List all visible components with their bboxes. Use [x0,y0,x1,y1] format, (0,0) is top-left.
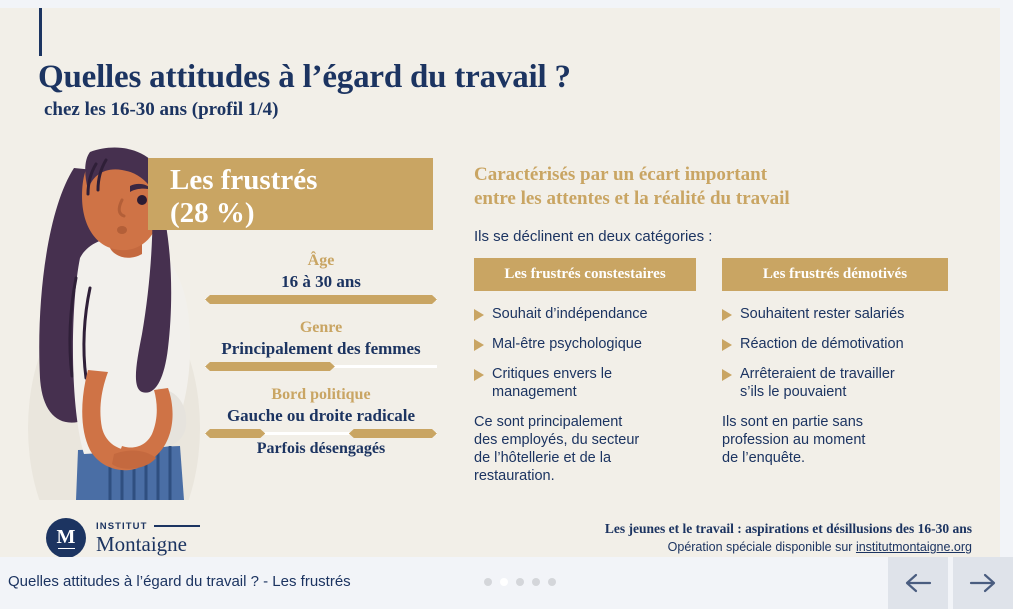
attribute-bar [205,362,437,371]
attribute-label: Âge [205,251,437,271]
attribute-bar [205,429,437,438]
title-block: Quelles attitudes à l’égard du travail ?… [38,58,938,122]
list-item-label: Critiques envers le management [492,365,612,401]
slide-caption: Quelles attitudes à l’égard du travail ?… [8,573,351,590]
triangle-bullet-icon [474,369,484,381]
list-item: Critiques envers le management [474,365,700,401]
slide-viewer: Quelles attitudes à l’égard du travail ?… [0,0,1013,609]
triangle-bullet-icon [722,309,732,321]
category-header: Les frustrés constestaires [474,258,696,291]
report-title: Les jeunes et le travail : aspirations e… [605,520,972,537]
category-contestataires: Les frustrés constestaires Souhait d’ind… [474,258,700,485]
institut-montaigne-logo: M INSTITUT Montaigne [46,518,200,557]
logo-montaigne-label: Montaigne [96,533,200,556]
list-item: Souhaitent rester salariés [722,305,948,323]
page-title: Quelles attitudes à l’égard du travail ? [38,58,938,96]
persona-name: Les frustrés [170,164,433,197]
logo-mark-icon: M [46,518,86,557]
triangle-bullet-icon [722,339,732,351]
next-slide-button[interactable] [953,557,1013,609]
arrow-right-icon [968,572,998,594]
attribute-value: Principalement des femmes [205,338,437,360]
logo-dash [154,525,200,527]
logo-letter: M [57,527,76,547]
pagination-dot[interactable] [484,578,492,586]
category-note: Ce sont principalement des employés, du … [474,413,700,485]
pagination-dot[interactable] [532,578,540,586]
list-item-label: Arrêteraient de travailler s’ils le pouv… [740,365,895,401]
list-item-label: Souhait d’indépendance [492,305,648,323]
bar-segment [205,429,265,438]
triangle-bullet-icon [722,369,732,381]
triangle-bullet-icon [474,309,484,321]
list-item: Arrêteraient de travailler s’ils le pouv… [722,365,948,401]
persona-share: (28 %) [170,197,433,230]
insights-intro: Ils se déclinent en deux catégories : [474,227,974,247]
logo-underline [58,548,75,550]
attribute-age: Âge 16 à 30 ans [205,251,437,304]
attribute-value-secondary: Parfois désengagés [205,438,437,460]
pagination-dot[interactable] [548,578,556,586]
slide-canvas: Quelles attitudes à l’égard du travail ?… [0,8,1000,557]
category-header: Les frustrés démotivés [722,258,948,291]
slide-footer: Les jeunes et le travail : aspirations e… [605,520,972,556]
persona-attributes: Âge 16 à 30 ans Genre Principalement des… [205,251,437,460]
bar-segment [349,429,437,438]
category-columns: Les frustrés constestaires Souhait d’ind… [474,258,974,485]
list-item-label: Souhaitent rester salariés [740,305,904,323]
attribute-bord-politique: Bord politique Gauche ou droite radicale… [205,385,437,460]
bar-segment [205,362,335,371]
category-note: Ils sont en partie sans profession au mo… [722,413,948,467]
website-link[interactable]: institutmontaigne.org [856,540,972,554]
list-item-label: Mal-être psychologique [492,335,642,353]
logo-institut-label: INSTITUT [96,521,148,532]
list-item-label: Réaction de démotivation [740,335,904,353]
category-demotives: Les frustrés démotivés Souhaitent rester… [722,258,948,485]
prev-slide-button[interactable] [888,557,948,609]
logo-institut-row: INSTITUT [96,521,200,532]
accent-rule [39,8,42,56]
attribute-value: Gauche ou droite radicale [205,405,437,427]
list-item: Souhait d’indépendance [474,305,700,323]
list-item: Mal-être psychologique [474,335,700,353]
bar-segment [205,295,437,304]
persona-banner: Les frustrés (28 %) [148,158,433,230]
pagination-dot-active[interactable] [500,578,508,586]
logo-wordmark: INSTITUT Montaigne [96,521,200,556]
attribute-label: Bord politique [205,385,437,405]
report-availability-prefix: Opération spéciale disponible sur [668,540,856,554]
list-item: Réaction de démotivation [722,335,948,353]
viewer-nav-controls [883,557,1013,609]
category-bullet-list: Souhait d’indépendance Mal-être psycholo… [474,305,700,401]
attribute-genre: Genre Principalement des femmes [205,318,437,371]
insights-header: Caractérisés par un écart important entr… [474,163,974,247]
attribute-value: 16 à 30 ans [205,271,437,293]
arrow-left-icon [903,572,933,594]
page-subtitle: chez les 16-30 ans (profil 1/4) [44,98,938,122]
category-bullet-list: Souhaitent rester salariés Réaction de d… [722,305,948,401]
attribute-label: Genre [205,318,437,338]
insights-headline-line2: entre les attentes et la réalité du trav… [474,187,974,211]
pagination-dot[interactable] [516,578,524,586]
attribute-bar [205,295,437,304]
insights-headline-line1: Caractérisés par un écart important [474,163,974,187]
triangle-bullet-icon [474,339,484,351]
slide-pagination-dots[interactable] [484,578,556,586]
report-availability: Opération spéciale disponible sur instit… [605,539,972,556]
